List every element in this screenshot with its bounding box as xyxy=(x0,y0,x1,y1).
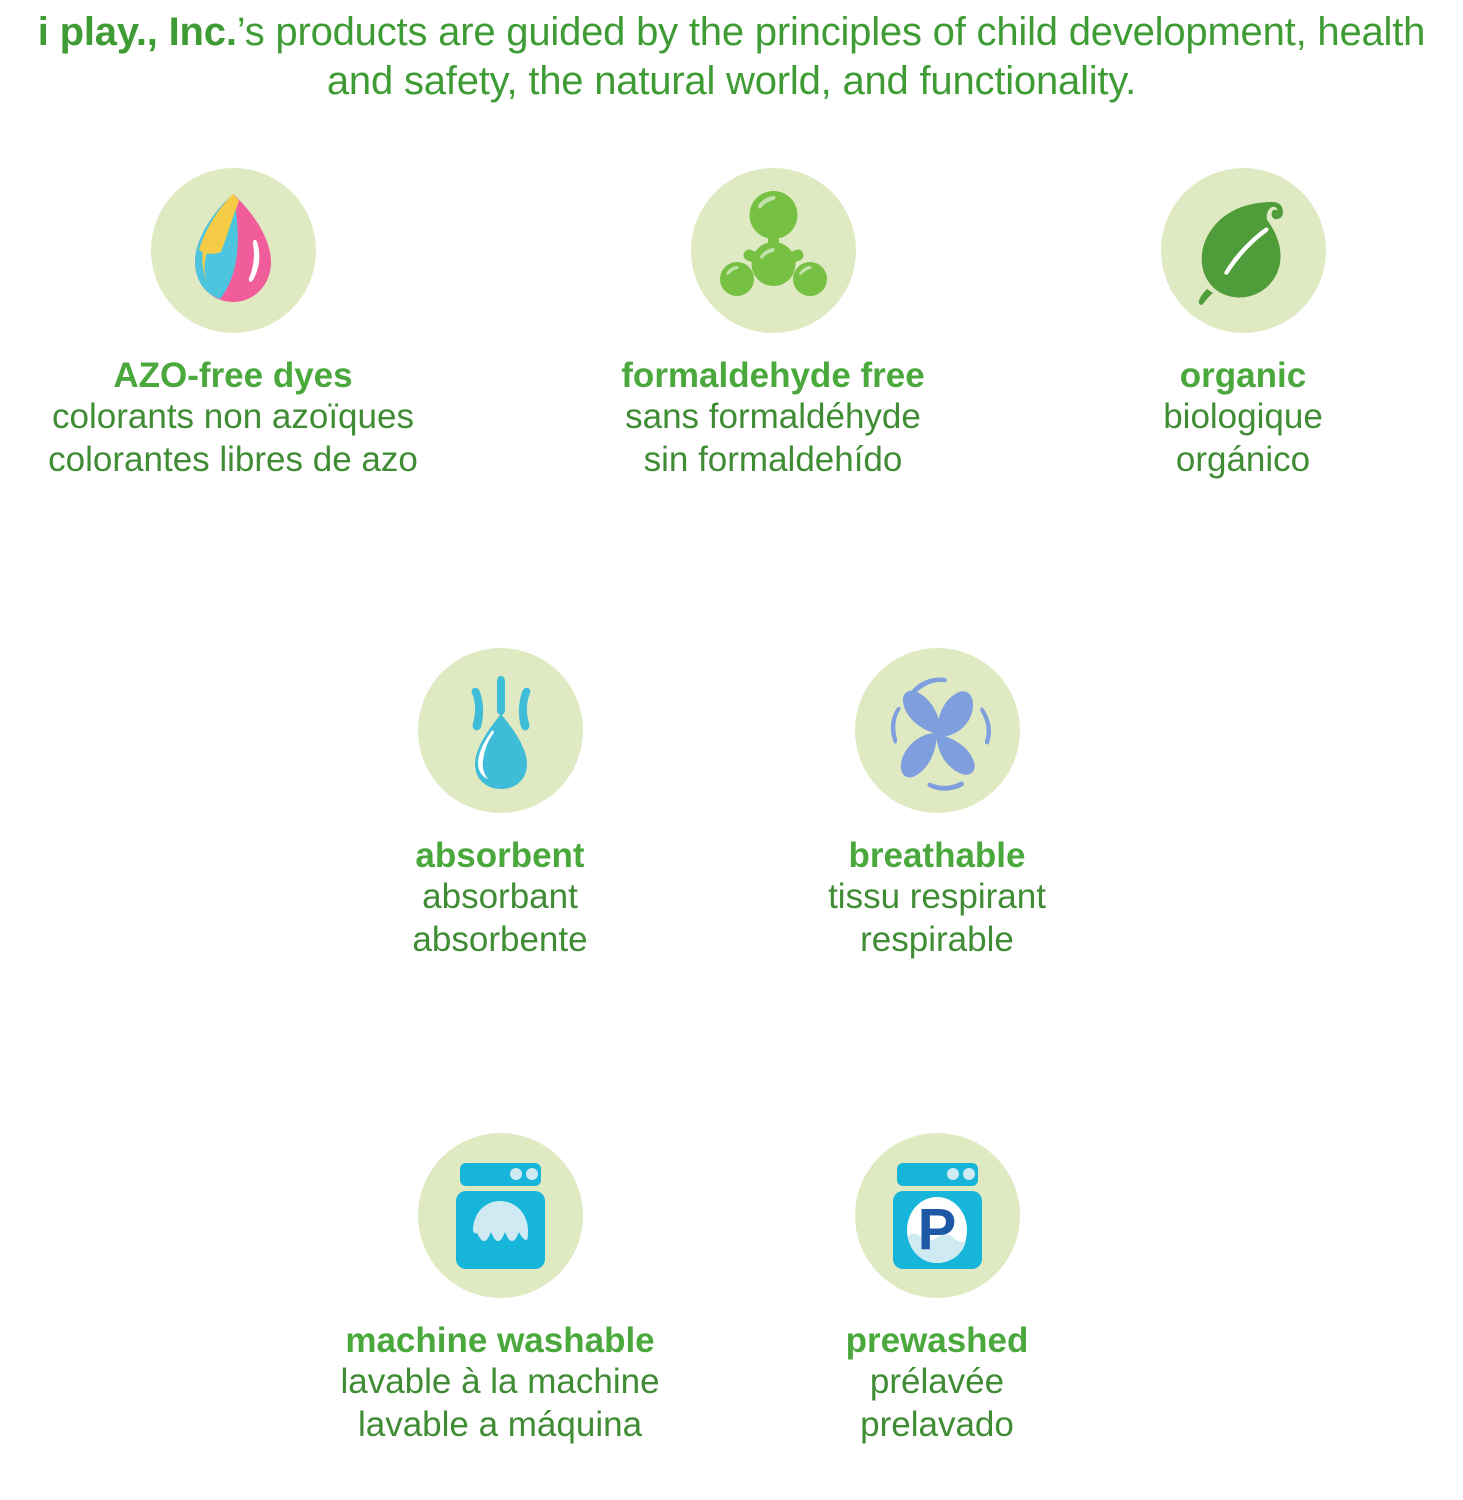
svg-text:P: P xyxy=(917,1197,956,1262)
feature-formaldehyde-free: formaldehyde free sans formaldéhyde sin … xyxy=(558,168,988,482)
feature-breathable: breathable tissu respirant respirable xyxy=(722,648,1152,962)
feature-absorbent: absorbent absorbant absorbente xyxy=(285,648,715,962)
intro-statement: i play., Inc.’s products are guided by t… xyxy=(0,8,1463,106)
feature-caption: machine washable lavable à la machine la… xyxy=(285,1320,715,1447)
feature-label-es: colorantes libres de azo xyxy=(18,439,448,482)
feature-prewashed: P prewashed prélavée prelavado xyxy=(722,1133,1152,1447)
feature-machine-washable: machine washable lavable à la machine la… xyxy=(285,1133,715,1447)
feature-label-es: orgánico xyxy=(1028,439,1458,482)
feature-label-es: lavable a máquina xyxy=(285,1404,715,1447)
feature-label-en: formaldehyde free xyxy=(558,355,988,396)
feature-label-en: AZO-free dyes xyxy=(18,355,448,396)
feature-label-en: machine washable xyxy=(285,1320,715,1361)
prewashed-machine-icon: P xyxy=(855,1133,1020,1298)
feature-caption: breathable tissu respirant respirable xyxy=(722,835,1152,962)
washing-machine-icon xyxy=(418,1133,583,1298)
feature-label-es: respirable xyxy=(722,919,1152,962)
feature-caption: formaldehyde free sans formaldéhyde sin … xyxy=(558,355,988,482)
feature-label-fr: sans formaldéhyde xyxy=(558,396,988,439)
feature-label-en: prewashed xyxy=(722,1320,1152,1361)
feature-label-en: absorbent xyxy=(285,835,715,876)
pinwheel-icon xyxy=(855,648,1020,813)
feature-label-es: prelavado xyxy=(722,1404,1152,1447)
feature-label-fr: tissu respirant xyxy=(722,876,1152,919)
feature-label-fr: lavable à la machine xyxy=(285,1361,715,1404)
leaf-icon xyxy=(1161,168,1326,333)
feature-label-es: sin formaldehído xyxy=(558,439,988,482)
feature-caption: prewashed prélavée prelavado xyxy=(722,1320,1152,1447)
feature-azo-free-dyes: AZO-free dyes colorants non azoïques col… xyxy=(18,168,448,482)
molecule-icon xyxy=(691,168,856,333)
feature-caption: absorbent absorbant absorbente xyxy=(285,835,715,962)
feature-label-fr: biologique xyxy=(1028,396,1458,439)
feature-label-fr: absorbant xyxy=(285,876,715,919)
feature-caption: AZO-free dyes colorants non azoïques col… xyxy=(18,355,448,482)
brand-name: i play., Inc. xyxy=(38,10,237,54)
feature-label-en: organic xyxy=(1028,355,1458,396)
feature-label-en: breathable xyxy=(722,835,1152,876)
intro-rest: ’s products are guided by the principles… xyxy=(237,10,1425,103)
feature-label-fr: prélavée xyxy=(722,1361,1152,1404)
dye-drop-icon xyxy=(151,168,316,333)
water-drop-icon xyxy=(418,648,583,813)
feature-label-fr: colorants non azoïques xyxy=(18,396,448,439)
feature-organic: organic biologique orgánico xyxy=(1028,168,1458,482)
feature-label-es: absorbente xyxy=(285,919,715,962)
feature-caption: organic biologique orgánico xyxy=(1028,355,1458,482)
